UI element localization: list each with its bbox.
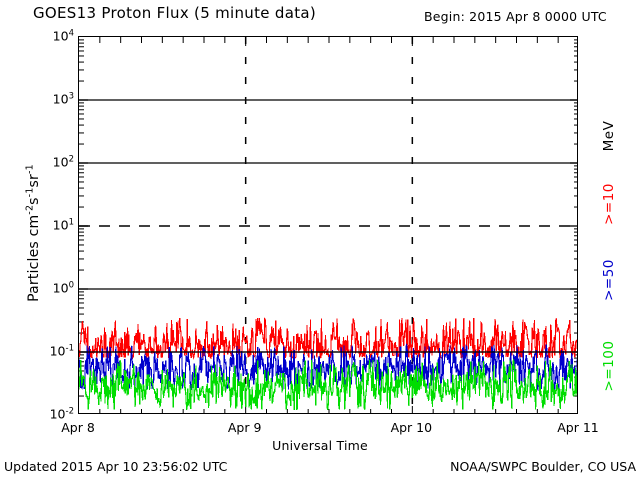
source-credit: NOAA/SWPC Boulder, CO USA [450,461,636,474]
begin-time-label: Begin: 2015 Apr 8 0000 UTC [424,11,607,24]
updated-timestamp: Updated 2015 Apr 10 23:56:02 UTC [4,461,227,474]
plot-area [78,36,578,414]
x-axis-title: Universal Time [0,440,640,453]
y-axis-tick-label: 103 [53,92,74,107]
proton-flux-plot-page: GOES13 Proton Flux (5 minute data) Begin… [0,0,640,480]
x-axis-tick-label: Apr 9 [228,420,262,435]
y-axis-tick-label: 104 [53,29,74,44]
x-axis-tick-label: Apr 10 [391,420,433,435]
legend-channel-2: >=50 [601,235,617,325]
page-title: GOES13 Proton Flux (5 minute data) [33,6,316,21]
legend-channel-3: >=100 [601,321,617,411]
flux-traces [79,37,577,413]
y-axis-tick-label: 102 [53,155,74,170]
plot-clip [79,37,577,413]
y-axis-tick-label: 10-1 [50,344,74,359]
x-axis-tick-label: Apr 11 [557,420,599,435]
x-axis-tick-label: Apr 8 [61,420,95,435]
y-axis-title: Particles cm-2s-1sr-1 [26,103,42,363]
y-axis-tick-label: 100 [53,281,74,296]
y-axis-tick-label: 101 [53,218,74,233]
